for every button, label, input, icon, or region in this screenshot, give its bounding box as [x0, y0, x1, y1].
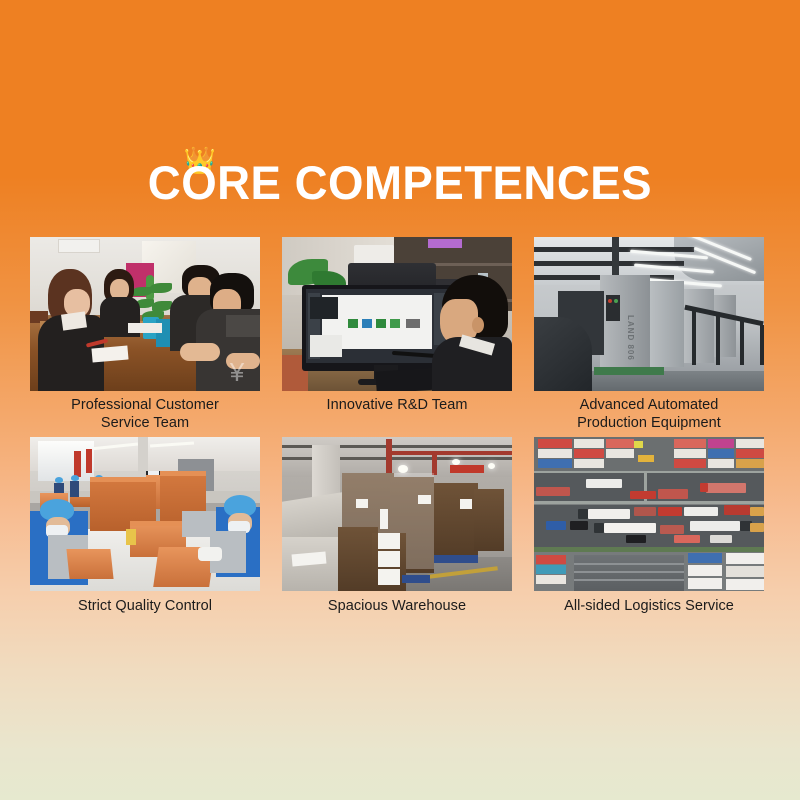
photo-spacious-warehouse[interactable]: [282, 437, 512, 591]
competences-grid-row-2: Strict Quality Control: [30, 425, 770, 616]
photo-advanced-automated-production-equipment[interactable]: LAND 806: [534, 237, 764, 391]
photo-strict-quality-control[interactable]: [30, 437, 260, 591]
caption-line-1: Strict Quality Control: [30, 598, 260, 616]
card-all-sided-logistics-service[interactable]: All-sided Logistics Service: [534, 437, 764, 616]
photo-innovative-rd-team[interactable]: [282, 237, 512, 391]
caption-innovative-rd-team: Innovative R&D Team: [282, 391, 512, 415]
card-spacious-warehouse[interactable]: Spacious Warehouse: [282, 437, 512, 616]
competences-grid: ¥ Professional Customer Service Team: [30, 237, 770, 432]
photo-professional-customer-service-team[interactable]: ¥: [30, 237, 260, 391]
caption-line-1: Spacious Warehouse: [282, 598, 512, 616]
caption-line-1: Innovative R&D Team: [282, 397, 512, 415]
page-header: 👑 CORE COMPETENCES: [0, 155, 800, 210]
caption-spacious-warehouse: Spacious Warehouse: [282, 591, 512, 616]
caption-all-sided-logistics-service: All-sided Logistics Service: [534, 591, 764, 616]
card-innovative-rd-team[interactable]: Innovative R&D Team: [282, 237, 512, 432]
caption-line-1: All-sided Logistics Service: [534, 598, 764, 616]
watermark: ¥: [216, 355, 258, 389]
caption-line-1: Advanced Automated: [534, 397, 764, 415]
photo-all-sided-logistics-service[interactable]: [534, 437, 764, 591]
card-advanced-automated-production-equipment[interactable]: LAND 806 Advanced Automated Production E…: [534, 237, 764, 432]
card-professional-customer-service-team[interactable]: ¥ Professional Customer Service Team: [30, 237, 260, 432]
card-strict-quality-control[interactable]: Strict Quality Control: [30, 437, 260, 616]
page-title: CORE COMPETENCES: [148, 155, 652, 210]
caption-line-1: Professional Customer: [30, 397, 260, 415]
caption-strict-quality-control: Strict Quality Control: [30, 591, 260, 616]
